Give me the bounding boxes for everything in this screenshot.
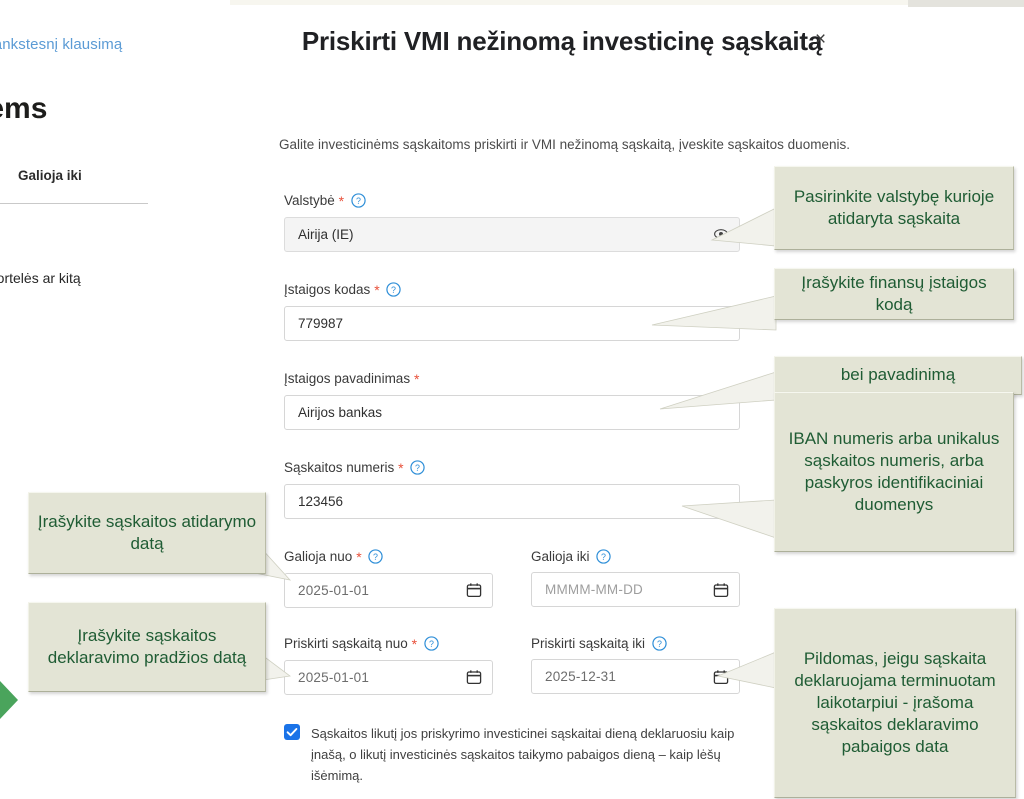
svg-text:?: ? [373, 552, 378, 562]
callout-deklaravimo-data: Įrašykite sąskaitos deklaravimo pradžios… [28, 602, 266, 692]
back-to-previous-question-link[interactable]: rįžti į ankstesnį klausimą [0, 36, 122, 53]
help-icon[interactable]: ? [424, 636, 439, 651]
label-valstybe: Valstybė * ? [284, 193, 740, 210]
required-asterisk: * [394, 460, 403, 476]
help-icon[interactable]: ? [652, 636, 667, 651]
input-istaigos-pavadinimas[interactable]: Airijos bankas [284, 395, 740, 430]
background-table-column-header-valid-until: Galioja iki [18, 168, 82, 183]
field-galioja-nuo: Galioja nuo * ? 2025-01-01 [284, 549, 493, 608]
field-istaigos-kodas: Įstaigos kodas * ? 779987 [284, 282, 740, 341]
svg-text:?: ? [657, 639, 662, 649]
label-priskirti-saskaita-nuo: Priskirti sąskaitą nuo * ? [284, 636, 493, 653]
svg-text:?: ? [415, 463, 420, 473]
close-icon[interactable]: × [815, 30, 826, 49]
label-istaigos-pavadinimas: Įstaigos pavadinimas * [284, 371, 740, 388]
field-galioja-iki: Galioja iki ? MMMM-MM-DD [531, 549, 740, 607]
field-saskaitos-numeris: Sąskaitos numeris * ? 123456 [284, 460, 740, 519]
svg-text:?: ? [601, 552, 606, 562]
green-arrow-pointer-icon [0, 681, 18, 719]
field-istaigos-pavadinimas: Įstaigos pavadinimas * Airijos bankas [284, 371, 740, 430]
background-table-divider [0, 203, 148, 204]
svg-text:?: ? [356, 196, 361, 206]
input-valstybe[interactable]: Airija (IE) [284, 217, 740, 252]
required-asterisk: * [408, 636, 417, 652]
modal-title: Priskirti VMI nežinomą investicinę sąska… [252, 24, 872, 59]
required-asterisk: * [352, 549, 361, 565]
input-priskirti-saskaita-nuo[interactable]: 2025-01-01 [284, 660, 493, 695]
label-priskirti-saskaita-iki: Priskirti sąskaitą iki ? [531, 636, 740, 652]
help-icon[interactable]: ? [368, 549, 383, 564]
required-asterisk: * [335, 193, 344, 209]
help-icon[interactable]: ? [351, 193, 366, 208]
consent-label: Sąskaitos likutį jos priskyrimo investic… [311, 723, 754, 786]
consent-row: Sąskaitos likutį jos priskyrimo investic… [284, 723, 754, 786]
background-page-heading: cinėms [0, 92, 47, 126]
callout-saskaitos-numeris: IBAN numeris arba unikalus sąskaitos num… [774, 392, 1014, 552]
field-valstybe: Valstybė * ? Airija (IE) [284, 193, 740, 252]
callout-valstybe: Pasirinkite valstybę kurioje atidaryta s… [774, 166, 1014, 250]
label-galioja-iki: Galioja iki ? [531, 549, 740, 565]
callout-atidarymo-data: Įrašykite sąskaitos atidarymo datą [28, 492, 266, 574]
calendar-icon[interactable] [466, 582, 482, 598]
top-band-right [908, 0, 1024, 7]
input-saskaitos-numeris[interactable]: 123456 [284, 484, 740, 519]
svg-text:?: ? [429, 639, 434, 649]
input-priskirti-saskaita-iki[interactable]: 2025-12-31 [531, 659, 740, 694]
label-saskaitos-numeris: Sąskaitos numeris * ? [284, 460, 740, 477]
checkmark-icon [284, 724, 300, 740]
label-istaigos-kodas: Įstaigos kodas * ? [284, 282, 740, 299]
field-priskirti-saskaita-iki: Priskirti sąskaitą iki ? 2025-12-31 [531, 636, 740, 694]
required-asterisk: * [370, 282, 379, 298]
help-icon[interactable]: ? [410, 460, 425, 475]
input-istaigos-kodas[interactable]: 779987 [284, 306, 740, 341]
callout-pavadinimas: bei pavadinimą [774, 356, 1022, 395]
calendar-icon[interactable] [713, 582, 729, 598]
callout-pabaigos-data: Pildomas, jeigu sąskaita deklaruojama te… [774, 608, 1016, 798]
help-icon[interactable]: ? [596, 549, 611, 564]
calendar-icon[interactable] [466, 669, 482, 685]
callout-istaigos-kodas: Įrašykite finansų įstaigos kodą [774, 268, 1014, 320]
field-priskirti-saskaita-nuo: Priskirti sąskaitą nuo * ? 2025-01-01 [284, 636, 493, 695]
input-galioja-nuo[interactable]: 2025-01-01 [284, 573, 493, 608]
input-galioja-iki[interactable]: MMMM-MM-DD [531, 572, 740, 607]
label-galioja-nuo: Galioja nuo * ? [284, 549, 493, 566]
background-page-note: o kortelės ar kitą [0, 270, 81, 286]
consent-checkbox[interactable] [284, 724, 300, 740]
eye-icon[interactable] [713, 226, 729, 242]
svg-text:?: ? [391, 285, 396, 295]
calendar-icon[interactable] [713, 669, 729, 685]
modal-subtitle: Galite investicinėms sąskaitoms priskirt… [257, 135, 872, 156]
required-asterisk: * [410, 371, 419, 387]
help-icon[interactable]: ? [386, 282, 401, 297]
